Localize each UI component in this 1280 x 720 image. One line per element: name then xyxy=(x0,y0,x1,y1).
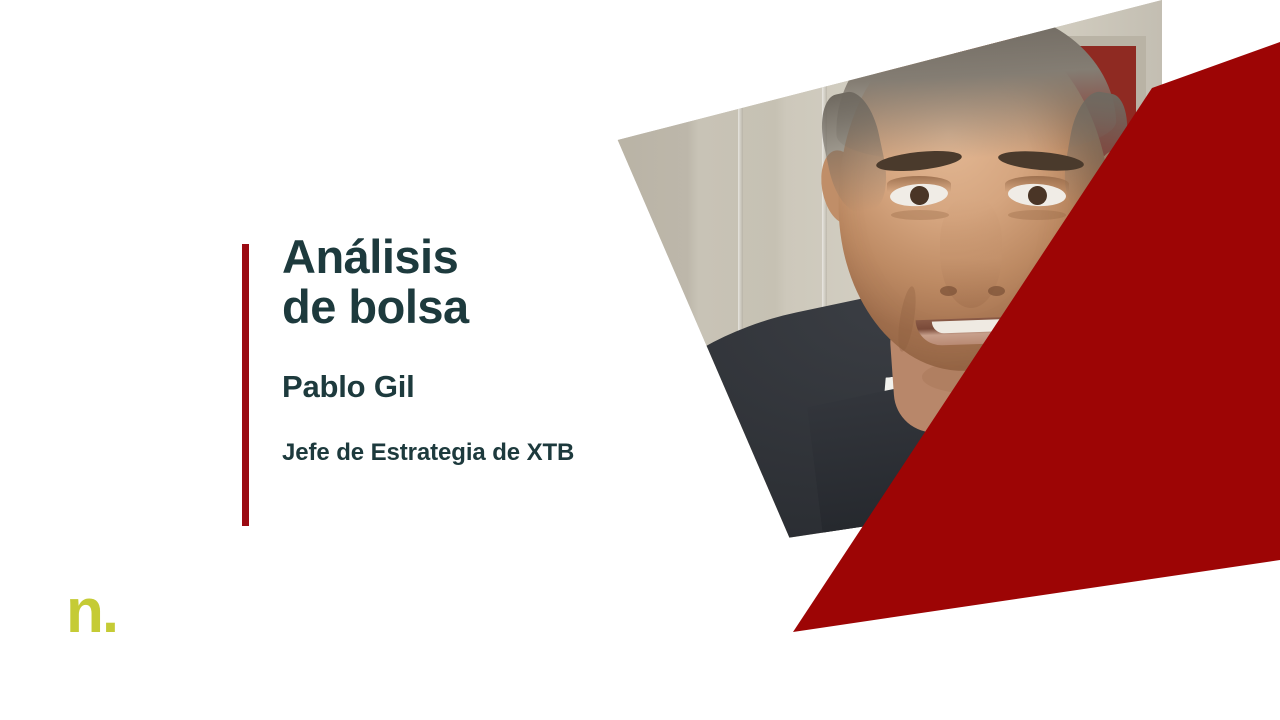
pupil-left xyxy=(909,185,929,205)
wall-panel-seam xyxy=(738,0,743,560)
person-role: Jefe de Estrategia de XTB xyxy=(282,439,672,467)
accent-bar xyxy=(242,244,249,526)
chin xyxy=(922,360,1030,394)
text-lines: Análisis de bolsa Pablo Gil Jefe de Estr… xyxy=(282,232,672,467)
slide-canvas: Análisis de bolsa Pablo Gil Jefe de Estr… xyxy=(0,0,1280,720)
nostril-left xyxy=(940,286,957,296)
page-title-line2: de bolsa xyxy=(282,282,672,332)
portrait-photo xyxy=(610,0,1162,560)
brand-logo: n. xyxy=(66,581,117,643)
person-name: Pablo Gil xyxy=(282,369,672,405)
nostril-right xyxy=(988,286,1005,296)
portrait-photo-inner xyxy=(610,0,1162,560)
under-eye-right xyxy=(1008,210,1066,220)
pupil-right xyxy=(1027,186,1047,206)
under-eye-left xyxy=(891,210,949,220)
page-title-line1: Análisis xyxy=(282,232,672,282)
